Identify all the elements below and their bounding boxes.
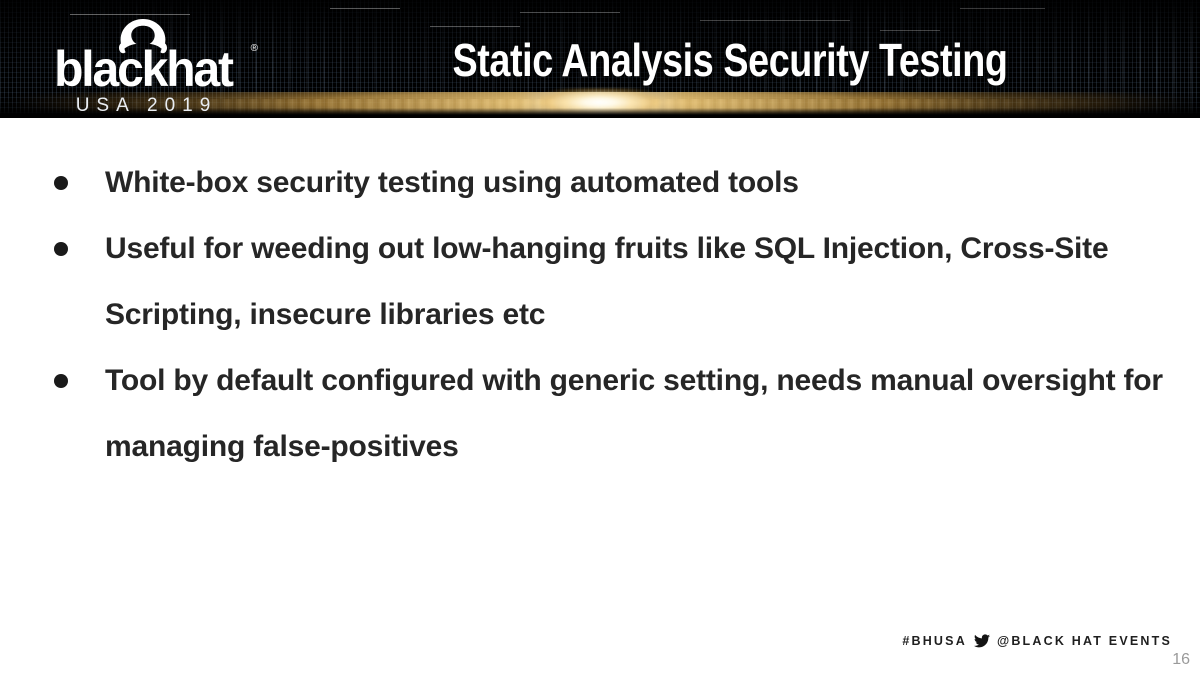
page-title: Static Analysis Security Testing bbox=[361, 28, 1099, 92]
list-item: Useful for weeding out low-hanging fruit… bbox=[48, 216, 1178, 348]
bullet-text: Useful for weeding out low-hanging fruit… bbox=[105, 216, 1178, 348]
bullet-text: White-box security testing using automat… bbox=[105, 150, 1178, 216]
page-number: 16 bbox=[1172, 651, 1190, 669]
twitter-bird-icon bbox=[974, 634, 990, 648]
bullet-dot-icon bbox=[54, 374, 68, 388]
slide-footer: #BHUSA @BLACK HAT EVENTS 16 bbox=[0, 618, 1200, 674]
bullet-dot-icon bbox=[54, 242, 68, 256]
bullet-text: Tool by default configured with generic … bbox=[105, 348, 1178, 480]
logo-edition-label: USA 2019 bbox=[24, 96, 262, 116]
list-item: White-box security testing using automat… bbox=[48, 150, 1178, 216]
black-hat-logo: blackhat ® USA 2019 bbox=[24, 18, 262, 110]
slide: blackhat ® USA 2019 Static Analysis Secu… bbox=[0, 0, 1200, 674]
slide-header-banner: blackhat ® USA 2019 Static Analysis Secu… bbox=[0, 0, 1200, 118]
registered-trademark-mark: ® bbox=[251, 44, 258, 54]
bullet-dot-icon bbox=[54, 176, 68, 190]
slide-body: White-box security testing using automat… bbox=[0, 118, 1200, 618]
bullet-list: White-box security testing using automat… bbox=[48, 150, 1178, 480]
footer-hashtag: #BHUSA bbox=[902, 634, 967, 648]
footer-handle: @BLACK HAT EVENTS bbox=[997, 634, 1172, 648]
list-item: Tool by default configured with generic … bbox=[48, 348, 1178, 480]
footer-social-brand: #BHUSA @BLACK HAT EVENTS bbox=[902, 634, 1172, 648]
logo-wordmark: blackhat bbox=[29, 42, 257, 96]
